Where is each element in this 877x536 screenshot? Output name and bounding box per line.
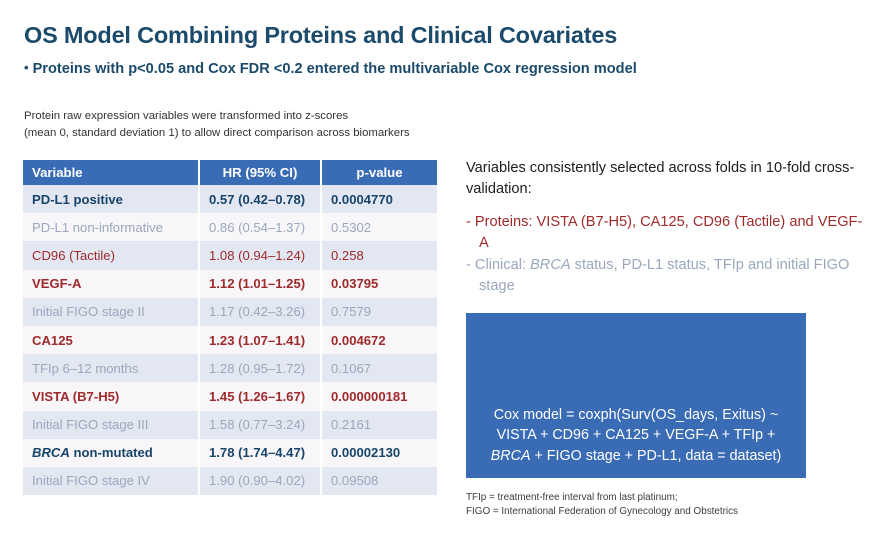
table-row: PD-L1 non-informative0.86 (0.54–1.37)0.5… [23, 213, 437, 241]
cell-pvalue: 0.0004770 [321, 185, 437, 213]
table-header-row: Variable HR (95% CI) p-value [23, 160, 437, 185]
cell-hr: 1.28 (0.95–1.72) [199, 354, 321, 382]
cell-hr: 1.45 (1.26–1.67) [199, 382, 321, 410]
results-table: Variable HR (95% CI) p-value PD-L1 posit… [23, 160, 437, 495]
gene-name-italic: BRCA [530, 257, 571, 273]
cell-variable: PD-L1 positive [23, 185, 199, 213]
cell-hr: 1.58 (0.77–3.24) [199, 411, 321, 439]
cell-variable: Initial FIGO stage IV [23, 467, 199, 495]
cell-variable: Initial FIGO stage III [23, 411, 199, 439]
cell-pvalue: 0.2161 [321, 411, 437, 439]
page-title: OS Model Combining Proteins and Clinical… [24, 22, 617, 49]
cell-pvalue: 0.00002130 [321, 439, 437, 467]
table-row: Initial FIGO stage IV1.90 (0.90–4.02)0.0… [23, 467, 437, 495]
zscore-note: Protein raw expression variables were tr… [24, 108, 410, 141]
cell-variable: VISTA (B7-H5) [23, 382, 199, 410]
cell-hr: 0.86 (0.54–1.37) [199, 213, 321, 241]
subtitle-bullet: •Proteins with p<0.05 and Cox FDR <0.2 e… [24, 60, 637, 77]
table-body: PD-L1 positive0.57 (0.42–0.78)0.0004770P… [23, 185, 437, 495]
cell-pvalue: 0.7579 [321, 298, 437, 326]
cell-hr: 1.12 (1.01–1.25) [199, 270, 321, 298]
footnotes: TFIp = treatment-free interval from last… [466, 491, 738, 519]
list-item-clinical: - Clinical: BRCA status, PD-L1 status, T… [466, 255, 866, 297]
table-row: CD96 (Tactile)1.08 (0.94–1.24)0.258 [23, 241, 437, 269]
formula-line-3: BRCA + FIGO stage + PD-L1, data = datase… [491, 446, 781, 467]
cell-hr: 1.90 (0.90–4.02) [199, 467, 321, 495]
table-row: Initial FIGO stage III1.58 (0.77–3.24)0.… [23, 411, 437, 439]
formula-line-3-rest: + FIGO stage + PD-L1, data = dataset) [531, 448, 782, 464]
cell-pvalue: 0.000000181 [321, 382, 437, 410]
cell-hr: 1.17 (0.42–3.26) [199, 298, 321, 326]
table-row: BRCA non-mutated1.78 (1.74–4.47)0.000021… [23, 439, 437, 467]
formula-line-2: VISTA + CD96 + CA125 + VEGF-A + TFIp + [491, 425, 781, 446]
cell-hr: 1.08 (0.94–1.24) [199, 241, 321, 269]
formula-brca-italic: BRCA [491, 448, 531, 464]
gene-name-italic: BRCA [32, 445, 70, 460]
formula-box: Cox model = coxph(Surv(OS_days, Exitus) … [466, 313, 806, 478]
zscore-note-line-2: (mean 0, standard deviation 1) to allow … [24, 125, 410, 142]
bullet-dot-icon: • [24, 60, 29, 75]
footnote-figo: FIGO = International Federation of Gynec… [466, 505, 738, 519]
cell-pvalue: 0.1067 [321, 354, 437, 382]
table-row: PD-L1 positive0.57 (0.42–0.78)0.0004770 [23, 185, 437, 213]
table-row: TFIp 6–12 months1.28 (0.95–1.72)0.1067 [23, 354, 437, 382]
cell-pvalue: 0.03795 [321, 270, 437, 298]
table-row: CA1251.23 (1.07–1.41)0.004672 [23, 326, 437, 354]
cell-variable: Initial FIGO stage II [23, 298, 199, 326]
zscore-note-line-1: Protein raw expression variables were tr… [24, 108, 410, 125]
cell-hr: 1.23 (1.07–1.41) [199, 326, 321, 354]
cell-variable: VEGF-A [23, 270, 199, 298]
formula-line-1: Cox model = coxph(Surv(OS_days, Exitus) … [491, 405, 781, 426]
cross-validation-list: - Proteins: VISTA (B7-H5), CA125, CD96 (… [466, 212, 866, 298]
list-item-proteins: - Proteins: VISTA (B7-H5), CA125, CD96 (… [466, 212, 866, 254]
column-header-hr: HR (95% CI) [199, 160, 321, 185]
formula-text: Cox model = coxph(Surv(OS_days, Exitus) … [491, 405, 781, 479]
cell-variable: PD-L1 non-informative [23, 213, 199, 241]
cell-pvalue: 0.258 [321, 241, 437, 269]
cell-pvalue: 0.09508 [321, 467, 437, 495]
cell-variable: CA125 [23, 326, 199, 354]
cell-hr: 0.57 (0.42–0.78) [199, 185, 321, 213]
column-header-pvalue: p-value [321, 160, 437, 185]
cross-validation-intro: Variables consistently selected across f… [466, 158, 866, 200]
cell-variable: TFIp 6–12 months [23, 354, 199, 382]
cell-variable: CD96 (Tactile) [23, 241, 199, 269]
table-row: VISTA (B7-H5)1.45 (1.26–1.67)0.000000181 [23, 382, 437, 410]
column-header-variable: Variable [23, 160, 199, 185]
table-row: VEGF-A1.12 (1.01–1.25)0.03795 [23, 270, 437, 298]
subtitle-text: Proteins with p<0.05 and Cox FDR <0.2 en… [33, 61, 637, 77]
cell-variable: BRCA non-mutated [23, 439, 199, 467]
footnote-tfip: TFIp = treatment-free interval from last… [466, 491, 738, 505]
cell-pvalue: 0.004672 [321, 326, 437, 354]
cell-pvalue: 0.5302 [321, 213, 437, 241]
cell-hr: 1.78 (1.74–4.47) [199, 439, 321, 467]
table-row: Initial FIGO stage II1.17 (0.42–3.26)0.7… [23, 298, 437, 326]
